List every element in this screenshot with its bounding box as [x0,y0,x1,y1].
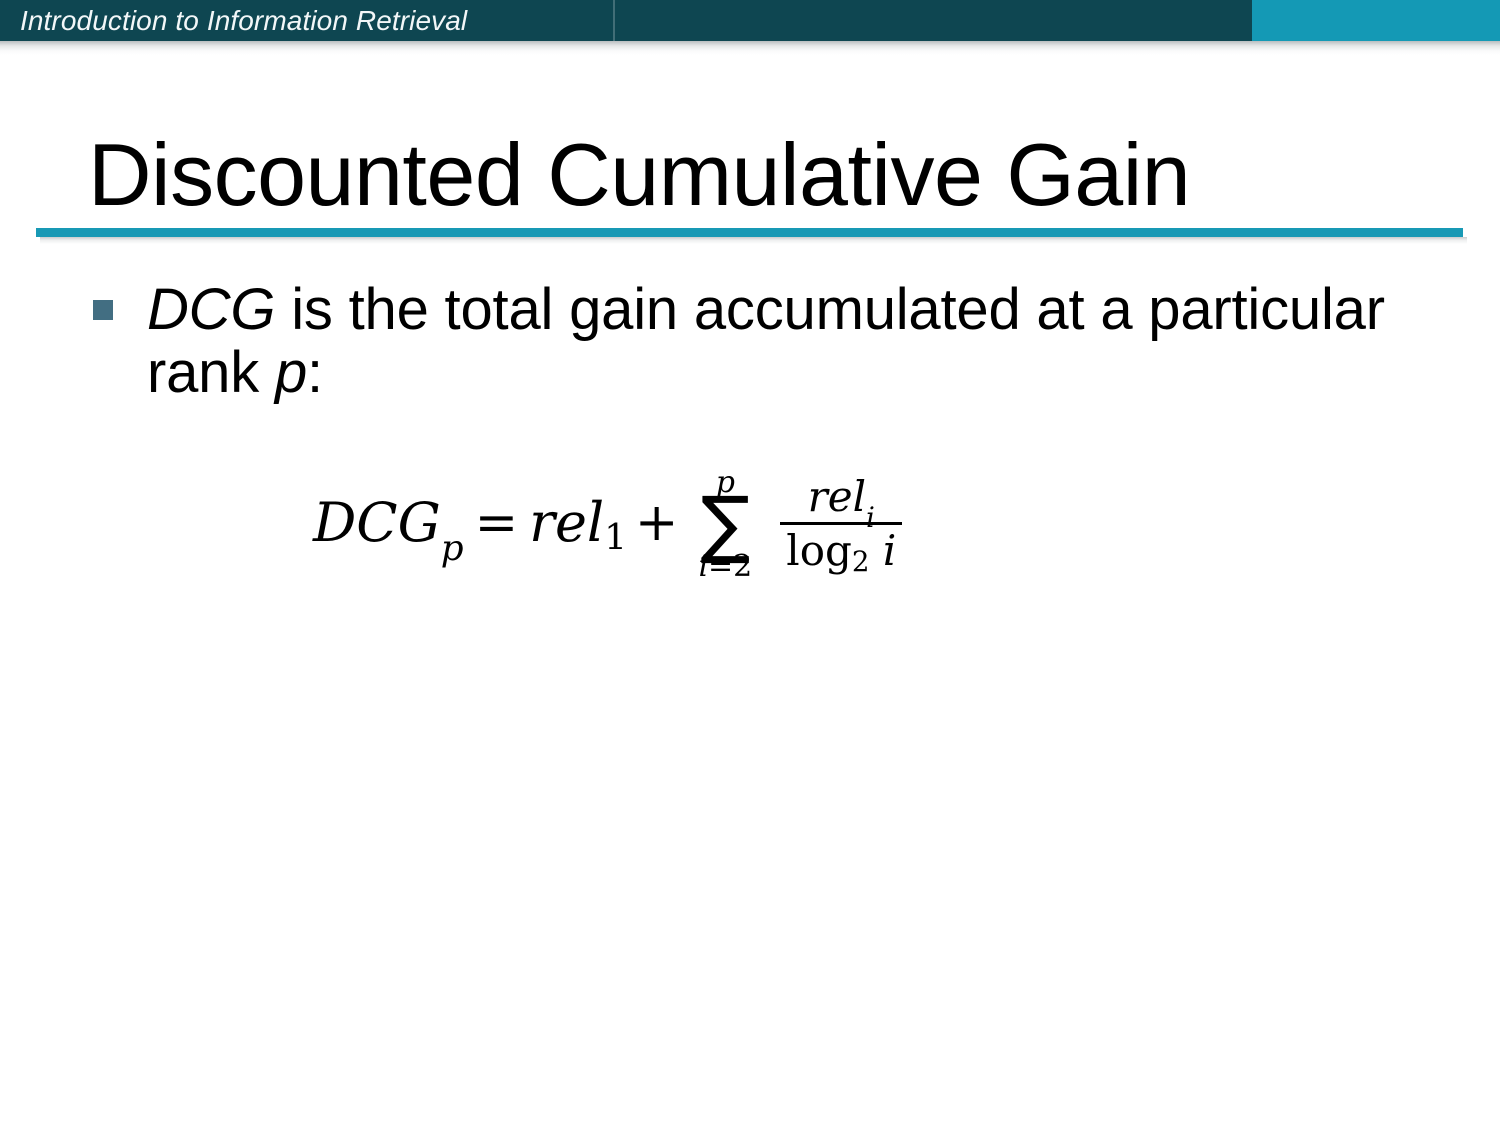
formula-numerator-subscript: i [866,501,875,534]
banner-divider [613,0,615,41]
formula-log: log [786,526,852,575]
bullet-text-middle: is the total gain accumulated at a parti… [147,277,1385,405]
formula-dcg: DCGp = rel1 + p ∑ i=2 reli log2 i [313,466,902,580]
formula-rel1-base: rel [529,491,604,554]
formula-summation: p ∑ i=2 [698,468,752,582]
list-item: DCG is the total gain accumulated at a p… [88,278,1428,404]
bullet-text-colon: : [307,340,323,405]
formula-rel1-subscript: 1 [604,517,627,558]
page-title: Discounted Cumulative Gain [88,126,1190,224]
formula-sum-index: i [698,549,708,584]
formula-lhs-subscript: p [441,528,464,569]
formula-sum-index-value: =2 [708,549,752,584]
formula-term-rel1: rel1 [529,496,627,550]
course-label: Introduction to Information Retrieval [20,0,467,41]
formula-plus: + [627,497,687,549]
bullet-square-icon [93,300,113,320]
formula-lhs: DCGp [313,496,464,550]
bullet-text: DCG is the total gain accumulated at a p… [147,278,1428,404]
title-underline-shadow [40,237,1467,244]
title-underline [36,228,1463,244]
bullet-term-p: p [275,340,307,405]
formula-log-base: 2 [852,545,870,578]
slide: Introduction to Information Retrieval Di… [0,0,1500,1125]
bullet-term-dcg: DCG [147,277,275,342]
formula-numerator-base: rel [808,472,866,521]
formula-equals: = [464,497,530,549]
title-underline-bar [36,228,1463,237]
formula-fraction: reli log2 i [780,473,902,574]
formula-lhs-base: DCG [313,491,441,554]
formula-row: DCGp = rel1 + p ∑ i=2 reli log2 i [313,466,902,580]
top-banner: Introduction to Information Retrieval [0,0,1500,41]
formula-log-argument: i [883,526,896,575]
sigma-icon: ∑ [700,494,750,555]
banner-accent-block [1252,0,1500,41]
formula-sum-lower-limit: i=2 [698,552,752,582]
body-content: DCG is the total gain accumulated at a p… [88,278,1428,404]
formula-fraction-numerator: reli [802,473,881,522]
formula-fraction-denominator: log2 i [780,525,902,574]
banner-shadow [0,41,1500,55]
